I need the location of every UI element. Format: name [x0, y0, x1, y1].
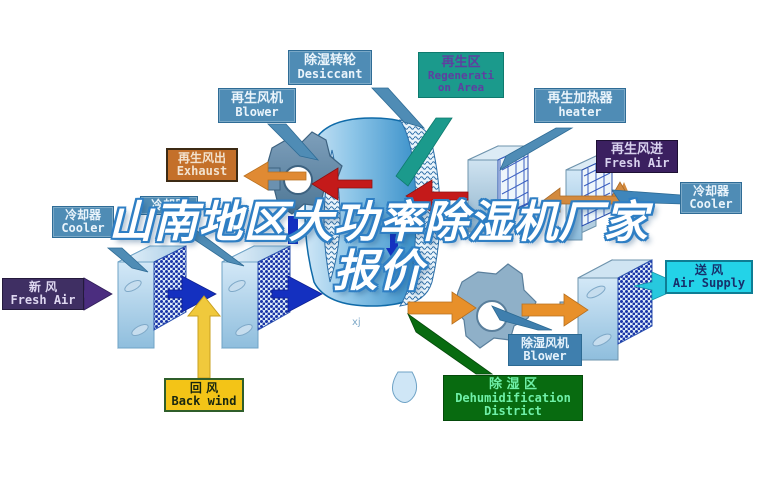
label-air-supply-en: Air Supply	[669, 277, 749, 290]
label-exhaust-cn: 再生风出	[170, 152, 234, 165]
label-regeneration-blower[interactable]: 再生风机 Blower	[218, 88, 296, 123]
label-cooler-left-1[interactable]: 冷却器 Cooler	[52, 206, 114, 238]
label-back-wind[interactable]: 回 风 Back wind	[164, 378, 244, 412]
diagram-canvas: xj	[0, 0, 757, 488]
label-regeneration-area-en2: on Area	[421, 82, 501, 94]
label-dehumidification-district-cn: 除 湿 区	[446, 378, 580, 392]
schematic-artwork: xj	[0, 0, 757, 488]
label-dehumidification-district[interactable]: 除 湿 区 Dehumidification District	[443, 375, 583, 421]
label-fresh-air-regeneration-en: Fresh Air	[599, 157, 675, 170]
label-cooler-left-1-en: Cooler	[55, 222, 111, 235]
label-dehumidification-blower-cn: 除湿风机	[511, 337, 579, 350]
label-regeneration-area[interactable]: 再生区 Regenerati on Area	[418, 52, 504, 98]
label-desiccant-cn: 除湿转轮	[291, 54, 369, 68]
label-air-supply[interactable]: 送 风 Air Supply	[665, 260, 753, 294]
label-regeneration-blower-en: Blower	[221, 106, 293, 119]
label-cooler-right[interactable]: 冷却器 Cooler	[680, 182, 742, 214]
label-exhaust-en: Exhaust	[170, 165, 234, 178]
label-back-wind-cn: 回 风	[168, 382, 240, 395]
label-cooler-left-2[interactable]: 冷却器	[140, 196, 198, 215]
label-back-wind-en: Back wind	[168, 395, 240, 408]
arrow-back-wind	[188, 296, 220, 378]
label-dehumidification-blower-en: Blower	[511, 350, 579, 363]
label-regeneration-blower-cn: 再生风机	[221, 92, 293, 106]
arrow-vertical-blue	[288, 216, 298, 244]
label-cooler-right-en: Cooler	[683, 198, 739, 211]
label-cooler-left-2-cn: 冷却器	[143, 199, 195, 212]
supply-coil-unit	[578, 260, 652, 360]
svg-text:xj: xj	[352, 317, 361, 328]
label-fresh-air-in-cn: 新 风	[5, 281, 81, 294]
label-dehumidification-district-en2: District	[446, 405, 580, 418]
label-fresh-air-in-en: Fresh Air	[5, 294, 81, 307]
label-fresh-air-in[interactable]: 新 风 Fresh Air	[2, 278, 84, 310]
label-fresh-air-regeneration[interactable]: 再生风进 Fresh Air	[596, 140, 678, 173]
label-regeneration-area-cn: 再生区	[421, 56, 501, 70]
label-exhaust[interactable]: 再生风出 Exhaust	[166, 148, 238, 182]
label-regeneration-heater-en: heater	[537, 106, 623, 119]
label-regeneration-heater[interactable]: 再生加热器 heater	[534, 88, 626, 123]
label-cooler-left-1-cn: 冷却器	[55, 209, 111, 222]
label-desiccant-en: Desiccant	[291, 68, 369, 81]
label-dehumidification-blower[interactable]: 除湿风机 Blower	[508, 334, 582, 366]
label-air-supply-cn: 送 风	[669, 264, 749, 277]
label-cooler-right-cn: 冷却器	[683, 185, 739, 198]
label-fresh-air-regeneration-cn: 再生风进	[599, 143, 675, 157]
label-desiccant[interactable]: 除湿转轮 Desiccant	[288, 50, 372, 85]
label-regeneration-heater-cn: 再生加热器	[537, 92, 623, 106]
